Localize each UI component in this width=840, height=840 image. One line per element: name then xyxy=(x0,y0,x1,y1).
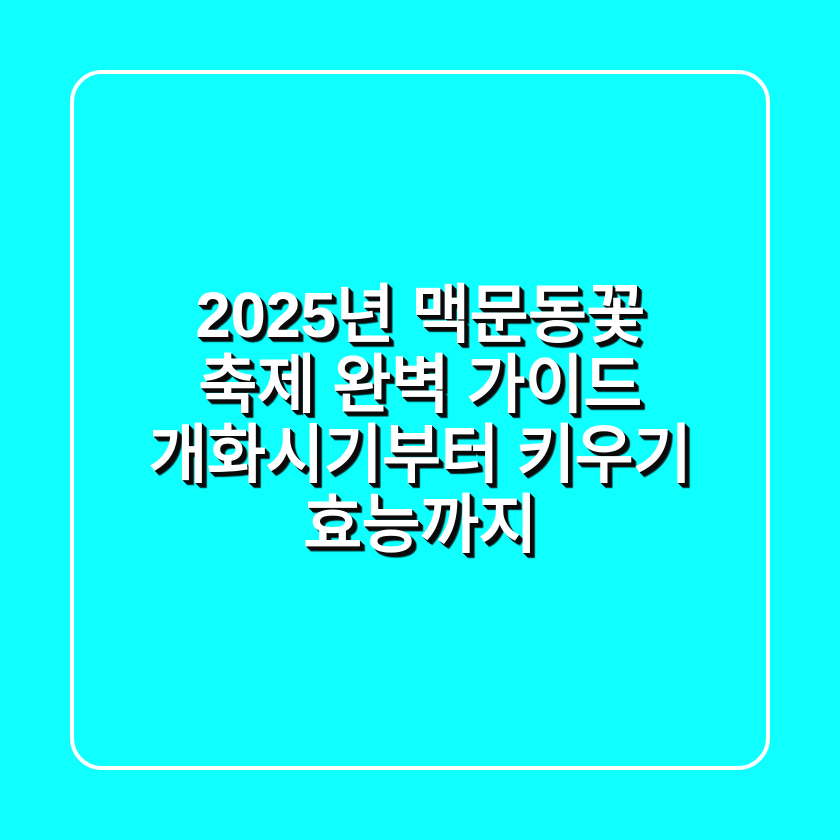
thumbnail-canvas: 2025년 맥문동꽃 축제 완벽 가이드 개화시기부터 키우기 효능까지 xyxy=(0,0,840,840)
title-line-2: 축제 완벽 가이드 xyxy=(88,350,752,420)
title-line-1: 2025년 맥문동꽃 xyxy=(88,280,752,350)
title-line-4: 효능까지 xyxy=(88,490,752,560)
title-line-3: 개화시기부터 키우기 xyxy=(88,420,752,490)
title-block: 2025년 맥문동꽃 축제 완벽 가이드 개화시기부터 키우기 효능까지 xyxy=(70,70,770,770)
